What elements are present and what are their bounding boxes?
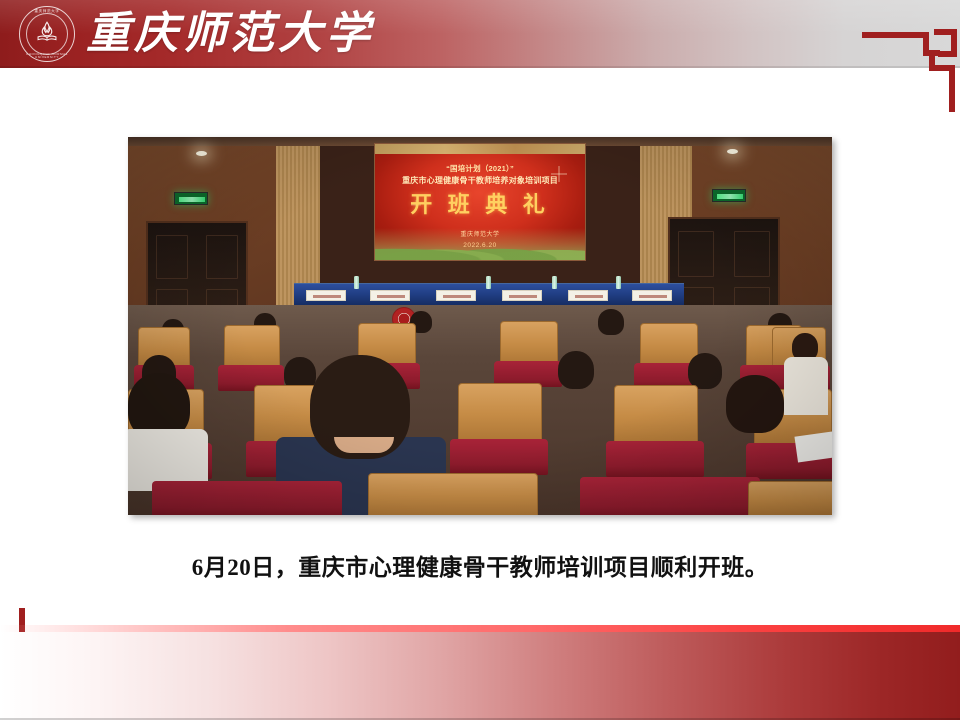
audience-person-body <box>784 357 828 415</box>
audience-person <box>726 375 784 433</box>
emergency-exit-sign <box>174 192 208 205</box>
door-panel <box>156 235 188 279</box>
water-bottle <box>486 276 491 289</box>
photo-content: “国培计划（2021）” 重庆市心理健康骨干教师培养对象培训项目 开 班 典 礼… <box>128 137 832 515</box>
foreground-attendee-neck <box>334 437 394 453</box>
ceiling-light <box>196 151 207 156</box>
water-bottle <box>616 276 621 289</box>
audience-person <box>598 309 624 335</box>
nameplate <box>568 290 608 301</box>
seal-flame-book-glyph <box>34 19 60 45</box>
slide-root: 重庆师范大学 CHONGQING NORMAL UNIVERSITY 重庆师范大… <box>0 0 960 720</box>
header-divider <box>0 66 960 68</box>
seal-top-label: 重庆师范大学 <box>19 10 75 14</box>
university-name-title: 重庆师范大学 <box>86 8 374 60</box>
water-bottle <box>552 276 557 289</box>
footer-accent-line <box>0 625 960 632</box>
nameplate <box>632 290 672 301</box>
auditorium-seat <box>368 473 538 515</box>
water-bottle <box>354 276 359 289</box>
auditorium-seat <box>614 385 698 447</box>
seat-cushion <box>450 439 548 475</box>
seat-cushion <box>606 441 704 477</box>
screen-program-title: “国培计划（2021）” <box>375 165 585 173</box>
audience-person <box>688 353 722 389</box>
university-seal-icon: 重庆师范大学 CHONGQING NORMAL UNIVERSITY <box>19 6 75 62</box>
footer-gradient-band <box>0 632 960 720</box>
opening-ceremony-photograph: “国培计划（2021）” 重庆市心理健康骨干教师培养对象培训项目 开 班 典 礼… <box>128 137 832 515</box>
audience-person <box>558 351 594 389</box>
screen-top-border <box>375 144 585 154</box>
photo-caption: 6月20日，重庆市心理健康骨干教师培训项目顺利开班。 <box>0 552 960 584</box>
emergency-exit-sign <box>712 189 746 202</box>
ceiling-light <box>727 149 738 154</box>
nameplate <box>436 290 476 301</box>
nameplate <box>502 290 542 301</box>
header-banner: 重庆师范大学 CHONGQING NORMAL UNIVERSITY 重庆师范大… <box>0 0 960 68</box>
seal-bottom-label: CHONGQING NORMAL UNIVERSITY <box>19 53 75 59</box>
door-panel <box>734 231 770 277</box>
seat-cushion <box>152 481 342 515</box>
screen-ceremony-headline: 开 班 典 礼 <box>375 194 585 216</box>
door-panel <box>206 235 238 279</box>
screen-organizer: 重庆师范大学 <box>375 232 585 238</box>
door-panel <box>678 231 714 277</box>
head-table <box>294 283 684 305</box>
nameplate <box>306 290 346 301</box>
projection-screen: “国培计划（2021）” 重庆市心理健康骨干教师培养对象培训项目 开 班 典 礼… <box>374 143 586 261</box>
seat-cushion <box>580 477 760 515</box>
screen-project-name: 重庆市心理健康骨干教师培养对象培训项目 <box>375 177 585 185</box>
auditorium-seat <box>748 481 832 515</box>
auditorium-seat <box>458 383 542 445</box>
screen-date: 2022.6.20 <box>375 243 585 250</box>
nameplate <box>370 290 410 301</box>
